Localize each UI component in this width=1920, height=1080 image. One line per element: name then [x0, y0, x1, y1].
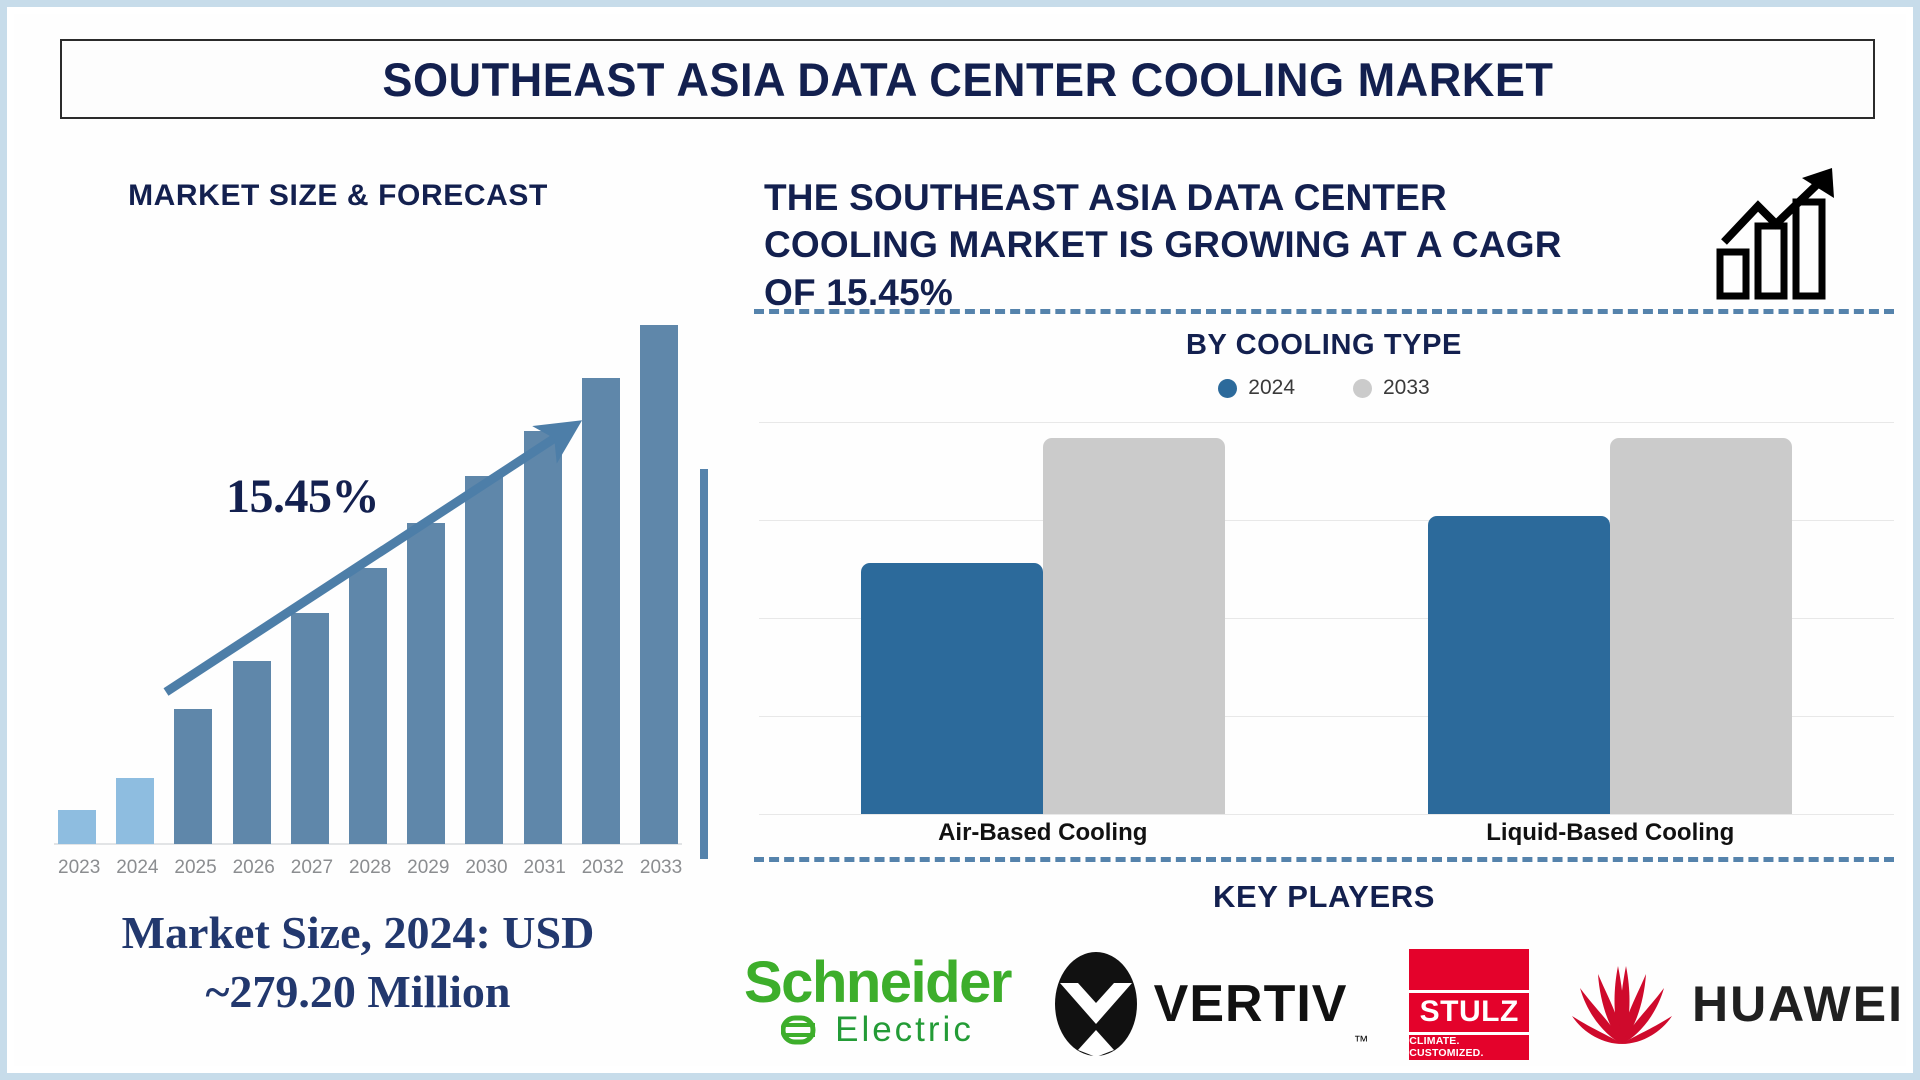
stulz-tagline: CLIMATE. CUSTOMIZED. — [1409, 1035, 1529, 1060]
year-label: 2032 — [582, 857, 620, 879]
segment-heading: BY COOLING TYPE — [754, 329, 1894, 362]
bar-2030 — [465, 476, 503, 844]
logo-stulz: STULZ CLIMATE. CUSTOMIZED. — [1409, 949, 1529, 1060]
vertiv-wordmark: VERTIV — [1154, 974, 1348, 1034]
infographic-frame: SOUTHEAST ASIA DATA CENTER COOLING MARKE… — [0, 0, 1920, 1080]
legend-swatch-icon — [1218, 379, 1237, 398]
bar-2025 — [174, 709, 212, 844]
market-size-value: Market Size, 2024: USD ~279.20 Million — [28, 904, 688, 1022]
bar-liquid-2033 — [1610, 438, 1792, 814]
bar-column — [582, 314, 620, 844]
infographic-canvas: SOUTHEAST ASIA DATA CENTER COOLING MARKE… — [14, 14, 1906, 1066]
bar-column — [524, 314, 562, 844]
logo-schneider-electric: Schneider Electric — [744, 958, 1011, 1049]
bar-group-air-based — [861, 422, 1225, 814]
bar-liquid-2024 — [1428, 516, 1610, 814]
year-label: 2026 — [233, 857, 271, 879]
bar-group-liquid-based — [1428, 422, 1792, 814]
bar-column — [407, 314, 445, 844]
logo-huawei: HUAWEI — [1570, 956, 1904, 1052]
huawei-flower-icon — [1570, 956, 1674, 1052]
logo-vertiv: VERTIV ™ — [1052, 950, 1369, 1058]
divider-bottom — [754, 857, 1894, 862]
bar-2028 — [349, 568, 387, 844]
bar-column — [174, 314, 212, 844]
bar-column — [116, 314, 154, 844]
cooling-type-chart — [759, 422, 1894, 814]
year-label: 2024 — [116, 857, 154, 879]
bar-column — [349, 314, 387, 844]
details-panel: THE SOUTHEAST ASIA DATA CENTER COOLING M… — [714, 164, 1914, 1074]
bar-2031 — [524, 431, 562, 844]
gridline — [759, 814, 1894, 815]
chart-legend: 2024 2033 — [754, 376, 1894, 400]
legend-swatch-icon — [1353, 379, 1372, 398]
year-axis-labels: 2023 2024 2025 2026 2027 2028 2029 2030 … — [58, 857, 678, 879]
schneider-sub-wordmark: Electric — [835, 1015, 974, 1045]
schneider-wordmark: Schneider — [744, 958, 1011, 1007]
bar-2029 — [407, 523, 445, 844]
market-size-line-1: Market Size, 2024: USD — [28, 904, 688, 963]
market-size-line-2: ~279.20 Million — [28, 963, 688, 1022]
key-players-heading: KEY PLAYERS — [754, 879, 1894, 915]
cagr-annotation: 15.45% — [226, 469, 379, 524]
divider-top — [754, 309, 1894, 314]
bar-2024 — [116, 778, 154, 844]
year-label: 2029 — [407, 857, 445, 879]
market-size-chart: 15.45% 2023 2024 2025 2026 2027 2028 202… — [36, 284, 696, 884]
category-label-liquid: Liquid-Based Cooling — [1420, 819, 1800, 847]
year-label: 2023 — [58, 857, 96, 879]
bar-column — [465, 314, 503, 844]
bar-2026 — [233, 661, 271, 844]
bar-groups — [759, 422, 1894, 814]
vertiv-trademark: ™ — [1354, 1033, 1369, 1050]
year-label: 2025 — [174, 857, 212, 879]
year-label: 2030 — [465, 857, 503, 879]
market-size-bars — [58, 314, 678, 844]
bar-2027 — [291, 613, 329, 844]
huawei-wordmark: HUAWEI — [1692, 975, 1904, 1033]
market-size-heading: MARKET SIZE & FORECAST — [28, 179, 648, 213]
cagr-headline: THE SOUTHEAST ASIA DATA CENTER COOLING M… — [764, 174, 1604, 316]
title-box: SOUTHEAST ASIA DATA CENTER COOLING MARKE… — [60, 39, 1875, 119]
stulz-red-block — [1409, 949, 1529, 993]
growth-bar-arrow-icon — [1714, 164, 1864, 304]
category-label-air: Air-Based Cooling — [853, 819, 1233, 847]
year-label: 2031 — [524, 857, 562, 879]
panel-divider — [700, 469, 708, 859]
legend-label: 2033 — [1383, 376, 1430, 400]
year-label: 2028 — [349, 857, 387, 879]
bar-air-2033 — [1043, 438, 1225, 814]
category-labels: Air-Based Cooling Liquid-Based Cooling — [759, 819, 1894, 847]
schneider-link-icon — [781, 1010, 827, 1050]
bar-column — [291, 314, 329, 844]
bar-column — [233, 314, 271, 844]
stulz-wordmark: STULZ — [1409, 993, 1529, 1035]
key-players-logos: Schneider Electric — [744, 939, 1904, 1069]
year-label: 2033 — [640, 857, 678, 879]
page-title: SOUTHEAST ASIA DATA CENTER COOLING MARKE… — [382, 52, 1553, 107]
bar-air-2024 — [861, 563, 1043, 814]
legend-item-2024: 2024 — [1218, 376, 1295, 400]
schneider-sub-row: Electric — [781, 1010, 974, 1050]
vertiv-mark-icon — [1052, 950, 1140, 1058]
year-label: 2027 — [291, 857, 329, 879]
bar-2032 — [582, 378, 620, 844]
bar-column — [58, 314, 96, 844]
bar-column — [640, 314, 678, 844]
legend-item-2033: 2033 — [1353, 376, 1430, 400]
market-size-panel: MARKET SIZE & FORECAST — [28, 164, 700, 1064]
bar-2023 — [58, 810, 96, 844]
bar-2033 — [640, 325, 678, 844]
legend-label: 2024 — [1248, 376, 1295, 400]
